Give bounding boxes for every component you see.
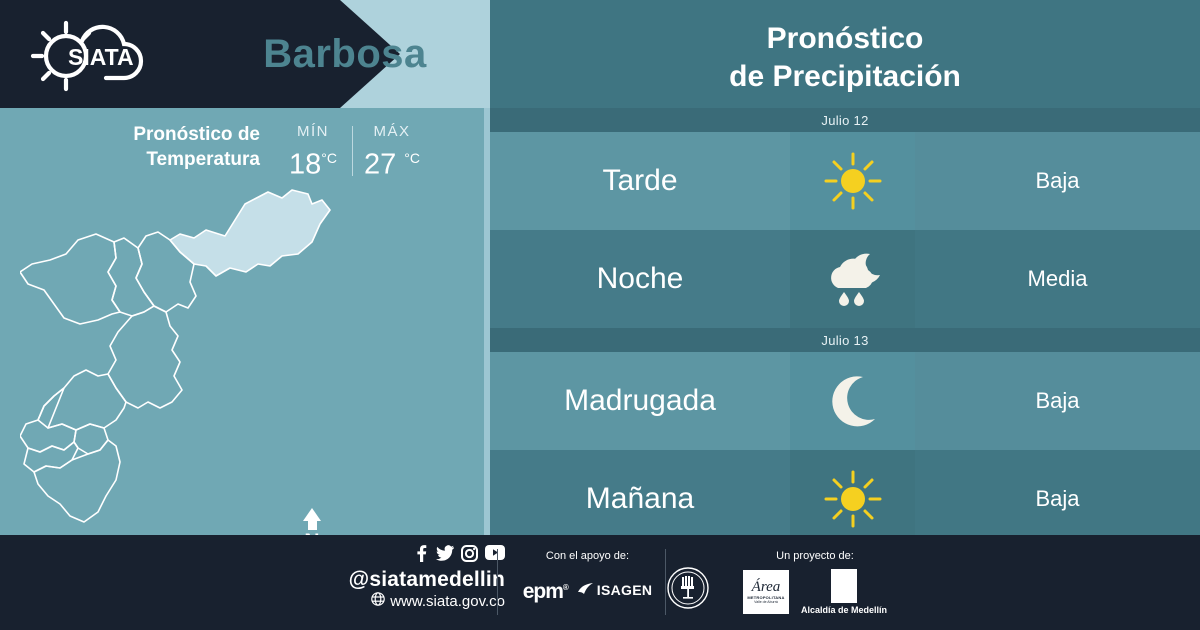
temperature-divider	[352, 126, 353, 176]
social-icons	[330, 545, 505, 567]
north-arrow-head	[303, 508, 321, 521]
date-band-0: Julio 12	[490, 108, 1200, 132]
temperature-min-unit: °C	[321, 150, 337, 166]
row-probability: Baja	[915, 352, 1200, 450]
temperature-max: MÁX 27 °C	[355, 122, 429, 181]
forecast-title: Pronóstico de Precipitación	[490, 8, 1200, 108]
twitter-icon[interactable]	[436, 545, 454, 567]
epm-logo: epm®	[523, 577, 568, 602]
map-region-sabaneta	[74, 424, 108, 454]
social-handle[interactable]: @siatamedellin	[330, 568, 505, 592]
instagram-icon[interactable]	[461, 545, 478, 567]
forecast-row[interactable]: Noche Media	[490, 230, 1200, 328]
logo-wordmark: SIATA	[68, 44, 134, 70]
sun-icon	[790, 450, 915, 548]
alcaldia-logo: Alcaldía de Medellín	[801, 569, 887, 615]
isagen-mark	[578, 583, 594, 596]
temperature-max-unit: °C	[404, 150, 420, 166]
alcaldia-mark	[831, 569, 857, 603]
city-title: Barbosa	[200, 0, 490, 108]
infographic-root: SIATA Barbosa Pronóstico de Temperatura …	[0, 0, 1200, 630]
footer: @siatamedellin www.siata.gov.co Con el a…	[0, 535, 1200, 630]
amva-subtitle2: Valle de Aburrá	[754, 600, 778, 604]
temperature-min-value: 18°C	[289, 142, 337, 181]
temperature-min-label: MÍN	[297, 122, 329, 142]
forecast-rows: Julio 12 Tarde	[490, 108, 1200, 535]
temperature-max-label: MÁX	[373, 122, 410, 142]
header-band: SIATA Barbosa	[0, 0, 490, 108]
temperature-title: Pronóstico de Temperatura	[60, 122, 260, 172]
forecast-panel: Pronóstico de Precipitación Julio 12 Tar…	[490, 0, 1200, 535]
footer-divider-2	[665, 549, 666, 615]
footer-divider-1	[497, 549, 498, 615]
amva-logo: Área METROPOLITANA Valle de Aburrá	[743, 570, 789, 614]
amva-wordmark: Área	[752, 580, 781, 595]
website-url: www.siata.gov.co	[390, 592, 505, 612]
forecast-row[interactable]: Tarde	[490, 132, 1200, 230]
social-block: @siatamedellin www.siata.gov.co	[330, 545, 505, 612]
forecast-row[interactable]: Madrugada Baja	[490, 352, 1200, 450]
temperature-max-value: 27 °C	[364, 142, 420, 181]
forecast-title-line1: Pronóstico	[767, 20, 924, 58]
date-band-1: Julio 13	[490, 328, 1200, 352]
project-logos: Área METROPOLITANA Valle de Aburrá Alcal…	[715, 569, 915, 615]
row-period-label: Noche	[490, 230, 790, 328]
isagen-logo: ISAGEN	[578, 582, 652, 598]
support-logos: epm® ISAGEN	[515, 577, 660, 602]
sun-icon	[790, 132, 915, 230]
forecast-title-line2: de Precipitación	[729, 58, 961, 96]
row-probability: Media	[915, 230, 1200, 328]
north-arrow-stem	[308, 521, 317, 530]
unal-seal-icon	[667, 567, 709, 609]
siata-logo: SIATA	[18, 14, 198, 94]
temperature-title-line1: Pronóstico de	[60, 122, 260, 147]
temperature-block: Pronóstico de Temperatura MÍN 18°C MÁX 2…	[60, 122, 460, 182]
map-region-itagui	[20, 388, 76, 452]
project-block: Un proyecto de: Área METROPOLITANA Valle…	[715, 549, 915, 615]
website-line[interactable]: www.siata.gov.co	[330, 592, 505, 612]
globe-icon	[371, 592, 385, 612]
project-caption: Un proyecto de:	[715, 549, 915, 563]
alcaldia-name: Alcaldía de Medellín	[801, 605, 887, 615]
municipality-map: N	[20, 180, 470, 535]
row-period-label: Tarde	[490, 132, 790, 230]
facebook-icon[interactable]	[414, 545, 429, 567]
map-region-caldas	[34, 440, 120, 522]
row-probability: Baja	[915, 132, 1200, 230]
row-period-label: Madrugada	[490, 352, 790, 450]
support-block: Con el apoyo de: epm® ISAGEN	[515, 549, 660, 602]
row-probability: Baja	[915, 450, 1200, 548]
temperature-min: MÍN 18°C	[276, 122, 350, 181]
temperature-title-line2: Temperatura	[60, 147, 260, 172]
forecast-row[interactable]: Mañana	[490, 450, 1200, 548]
row-period-label: Mañana	[490, 450, 790, 548]
map-region-bello	[20, 234, 120, 324]
youtube-icon[interactable]	[485, 545, 505, 567]
moon-icon	[790, 352, 915, 450]
temperature-values: MÍN 18°C MÁX 27 °C	[276, 122, 429, 181]
moon-cloud-rain-icon	[790, 230, 915, 328]
left-panel: SIATA Barbosa Pronóstico de Temperatura …	[0, 0, 490, 535]
support-caption: Con el apoyo de:	[515, 549, 660, 563]
